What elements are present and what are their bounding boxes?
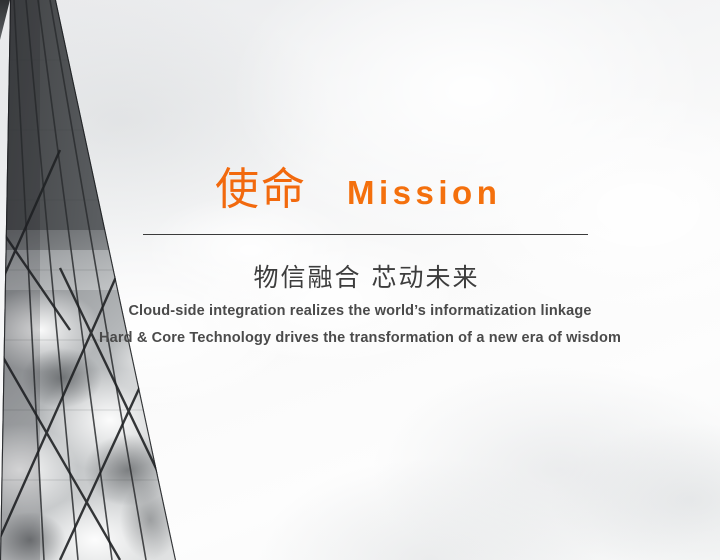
mission-subtitle-cn: 物信融合 芯动未来 — [143, 258, 590, 294]
mission-title: 使命 Mission — [143, 168, 590, 228]
mission-banner: 使命 Mission 物信融合 芯动未来 Cloud-side integrat… — [0, 0, 720, 560]
mission-tagline-line-2: Hard & Core Technology drives the transf… — [60, 330, 660, 346]
title-divider — [143, 234, 588, 235]
mission-title-en: Mission — [347, 176, 501, 209]
mission-title-cn: 使命 — [215, 168, 307, 212]
mission-tagline-line-1: Cloud-side integration realizes the worl… — [60, 303, 660, 319]
